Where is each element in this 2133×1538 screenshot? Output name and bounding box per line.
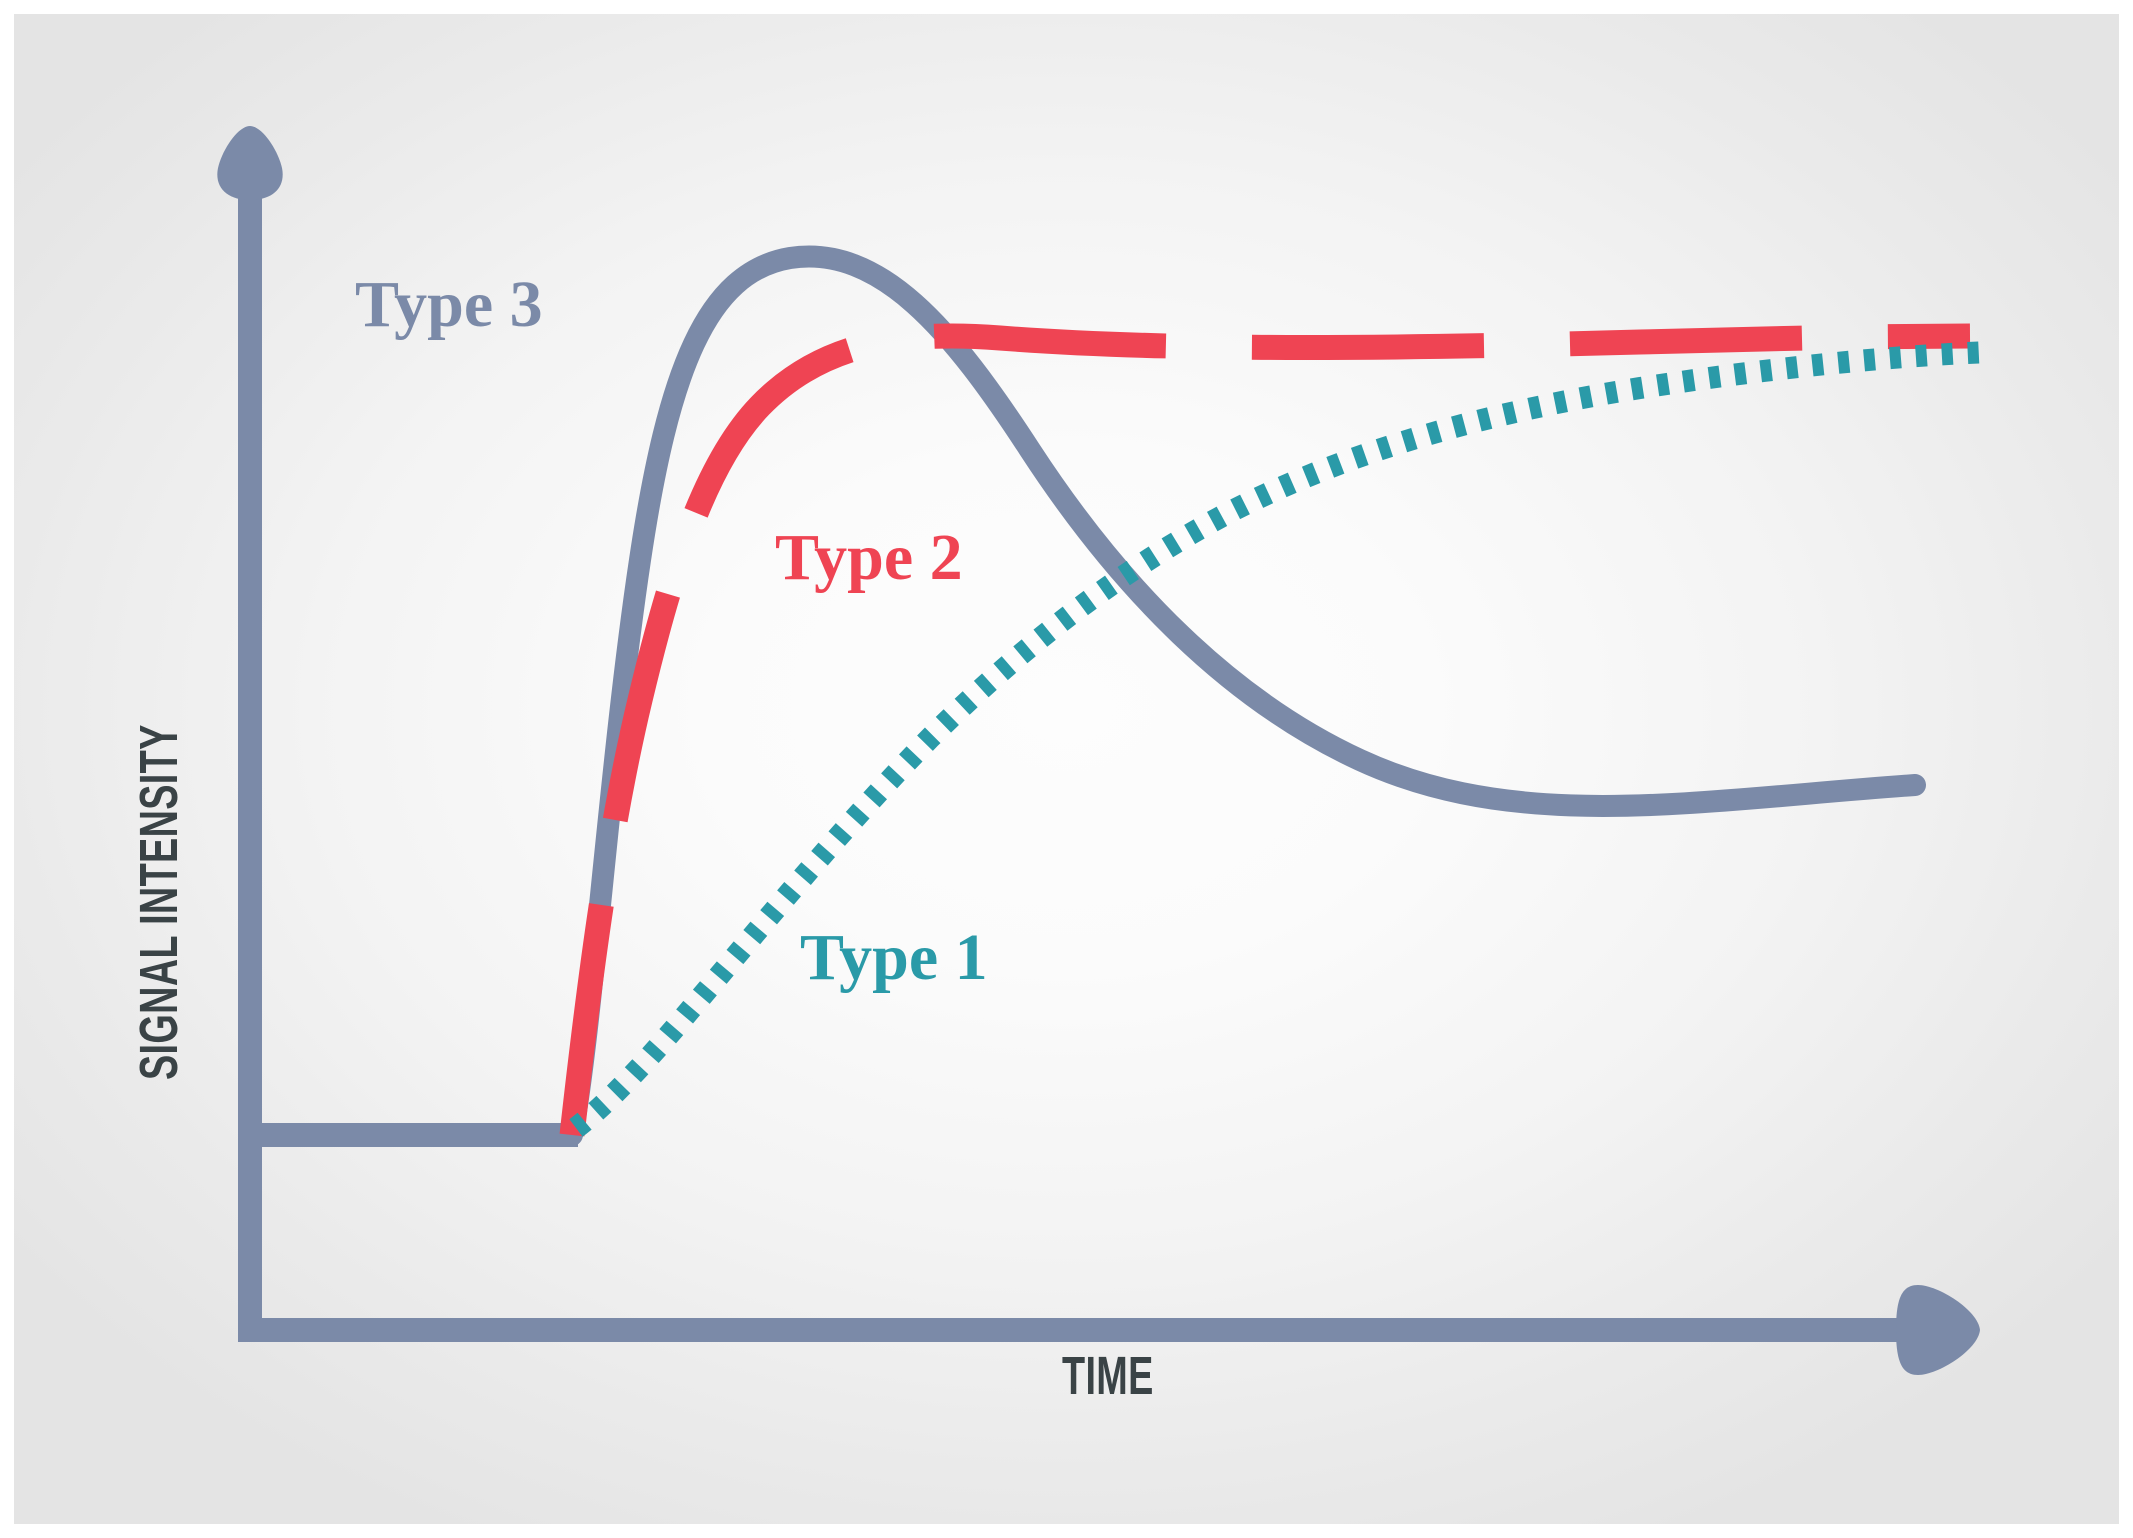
- y-axis-label: SIGNAL INTENSITY: [132, 724, 186, 1080]
- series-label-type3: Type 3: [355, 272, 543, 338]
- chart-plot-area: [0, 0, 2133, 1538]
- series-curve-type2: [572, 336, 1970, 1135]
- series-curve-type1: [576, 352, 1990, 1128]
- series-label-type2: Type 2: [775, 525, 963, 591]
- x-axis-arrow-icon: [1896, 1285, 1980, 1375]
- chart-figure: SIGNAL INTENSITY TIME Type 3 Type 2 Type…: [0, 0, 2133, 1538]
- x-axis-label: TIME: [1062, 1349, 1154, 1403]
- x-axis-label-wrapper: TIME: [1062, 1349, 1193, 1403]
- y-axis-arrow-icon: [217, 126, 282, 200]
- series-label-type1: Type 1: [800, 925, 988, 991]
- y-axis-label-wrapper: SIGNAL INTENSITY: [132, 572, 186, 1080]
